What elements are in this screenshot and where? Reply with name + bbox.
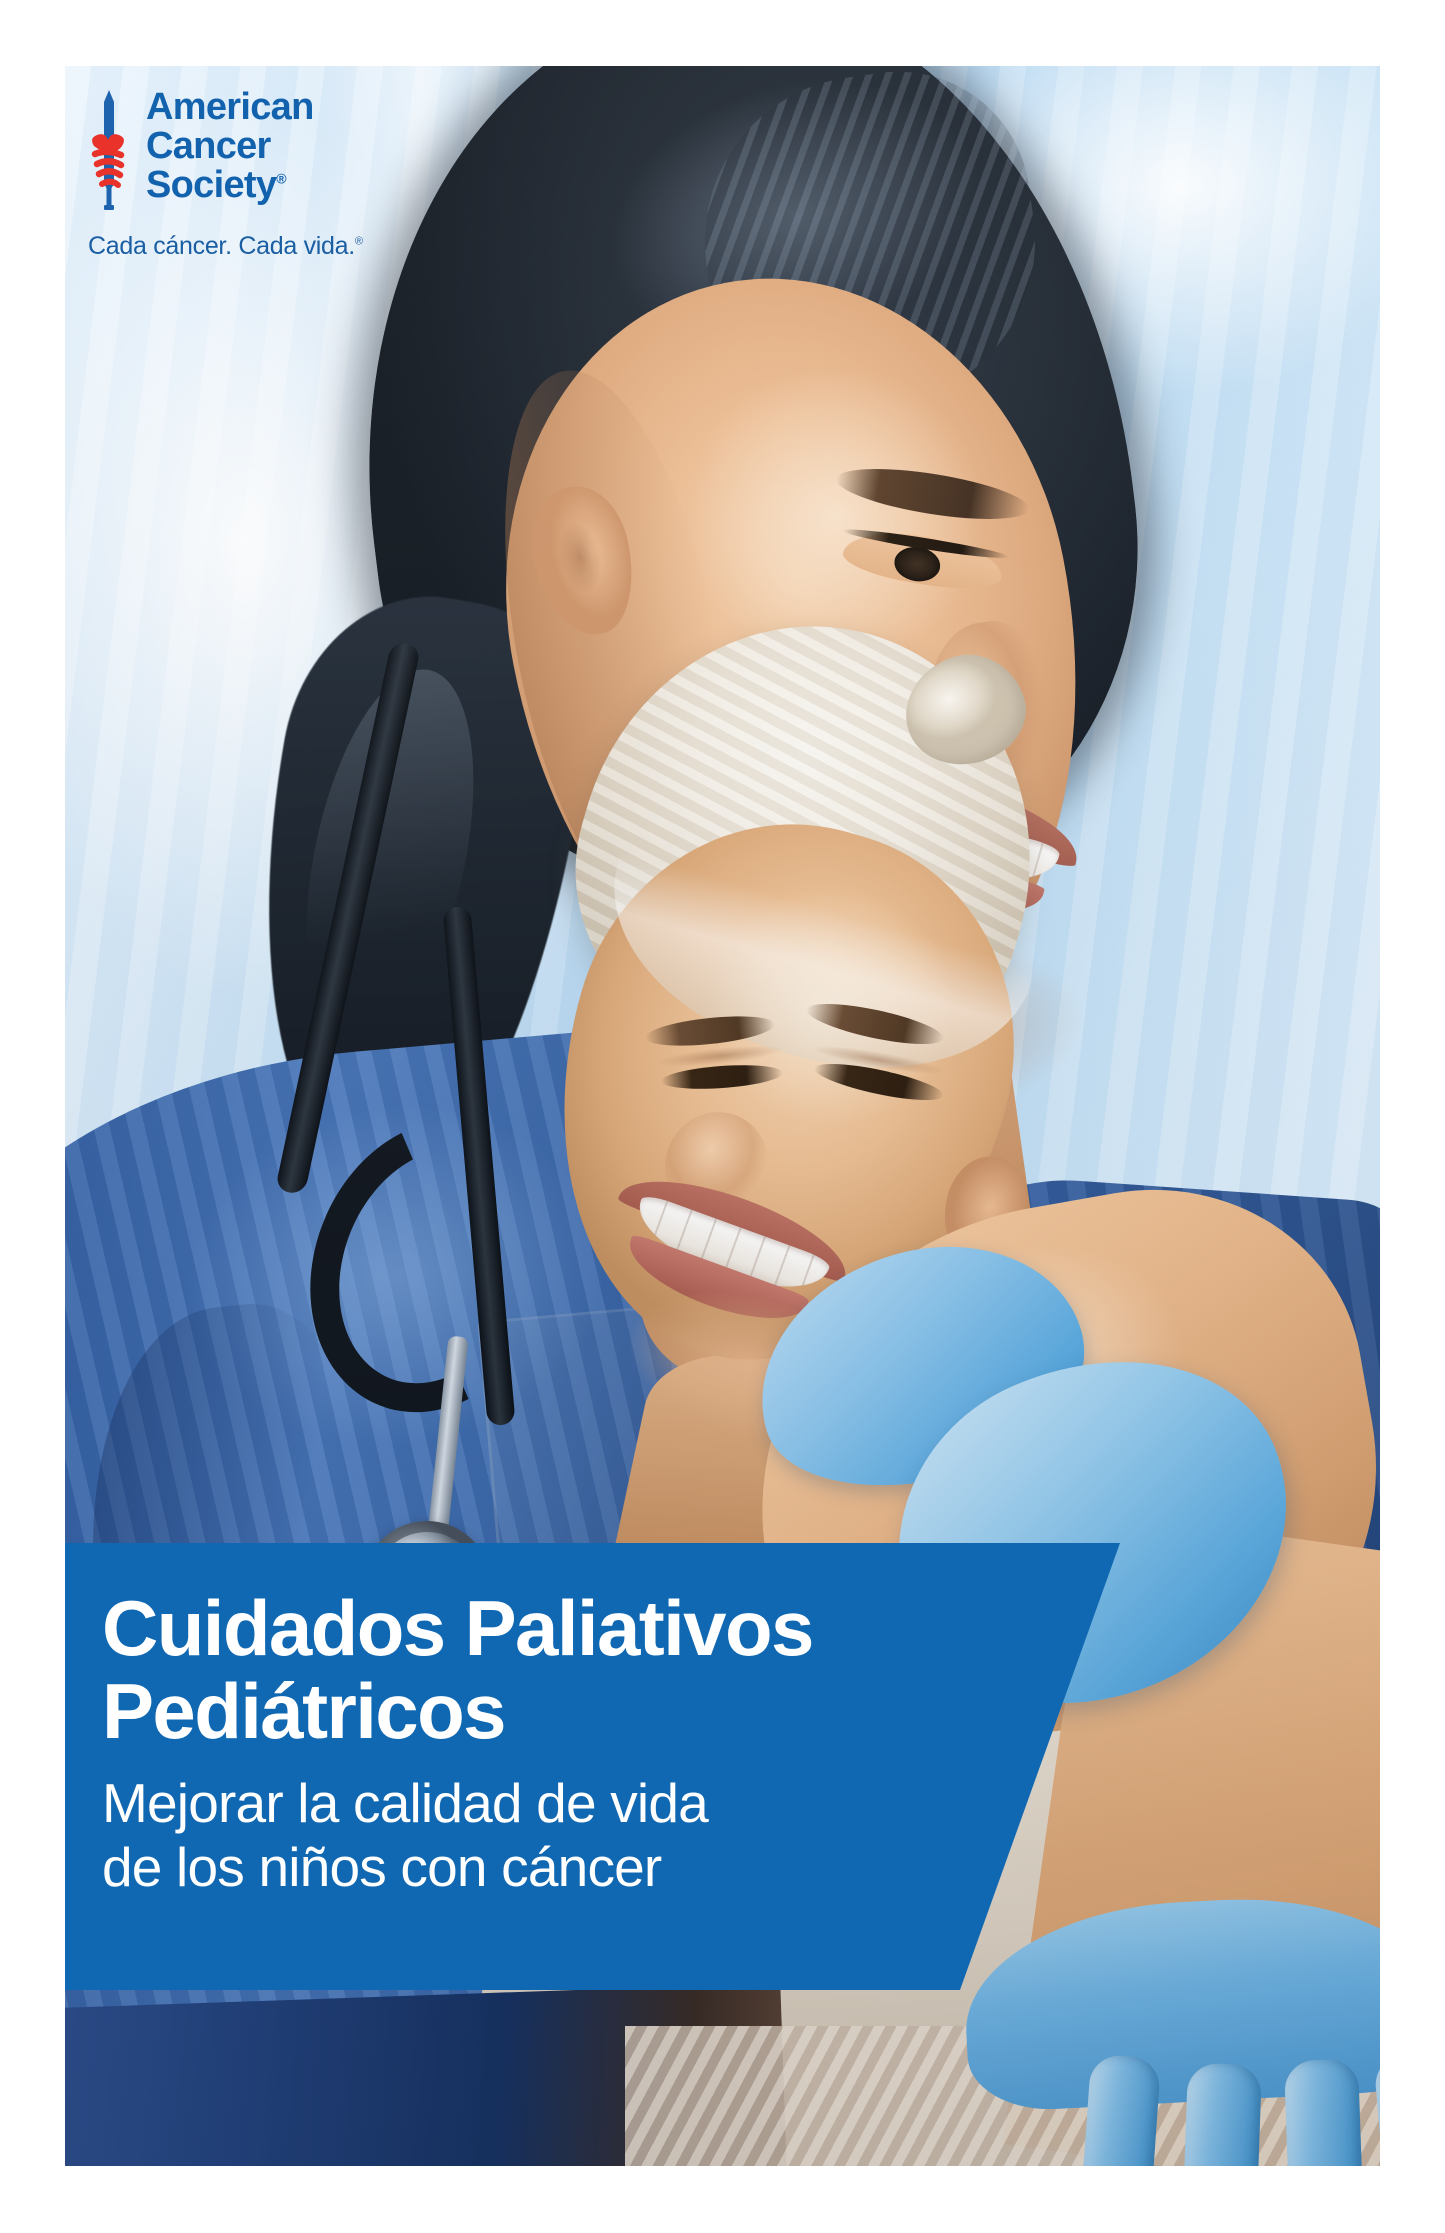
logo-society-text: Society bbox=[146, 164, 276, 206]
title-banner-content: Cuidados Paliativos Pediátricos Mejorar … bbox=[102, 1587, 942, 1900]
logo-registered-mark: ® bbox=[276, 170, 286, 186]
logo-line-society: Society® bbox=[146, 166, 314, 205]
page-subtitle: Mejorar la calidad de vida de los niños … bbox=[102, 1772, 942, 1900]
logo-tagline: Cada cáncer. Cada vida.® bbox=[88, 232, 426, 261]
logo-wordmark: American Cancer Society® bbox=[146, 88, 314, 204]
logo-line-american: American bbox=[146, 88, 314, 127]
glove-finger-2 bbox=[1182, 2063, 1262, 2166]
title-line-2: Pediátricos bbox=[102, 1667, 505, 1755]
american-cancer-society-logo: American Cancer Society® Cada cáncer. Ca… bbox=[86, 88, 426, 261]
subtitle-line-1: Mejorar la calidad de vida bbox=[102, 1772, 708, 1834]
logo-tagline-text: Cada cáncer. Cada vida. bbox=[88, 232, 355, 260]
title-line-1: Cuidados Paliativos bbox=[102, 1584, 813, 1672]
acs-sword-serpent-icon bbox=[86, 88, 132, 212]
subtitle-line-2: de los niños con cáncer bbox=[102, 1836, 661, 1898]
nurse-face-highlight bbox=[685, 366, 985, 666]
logo-line-cancer: Cancer bbox=[146, 127, 314, 166]
glove-finger-3 bbox=[1284, 2059, 1364, 2166]
logo-tagline-registered-mark: ® bbox=[355, 236, 363, 248]
brochure-cover-page: American Cancer Society® Cada cáncer. Ca… bbox=[0, 0, 1445, 2233]
title-banner: Cuidados Paliativos Pediátricos Mejorar … bbox=[65, 1543, 1125, 1990]
page-title: Cuidados Paliativos Pediátricos bbox=[102, 1587, 942, 1752]
